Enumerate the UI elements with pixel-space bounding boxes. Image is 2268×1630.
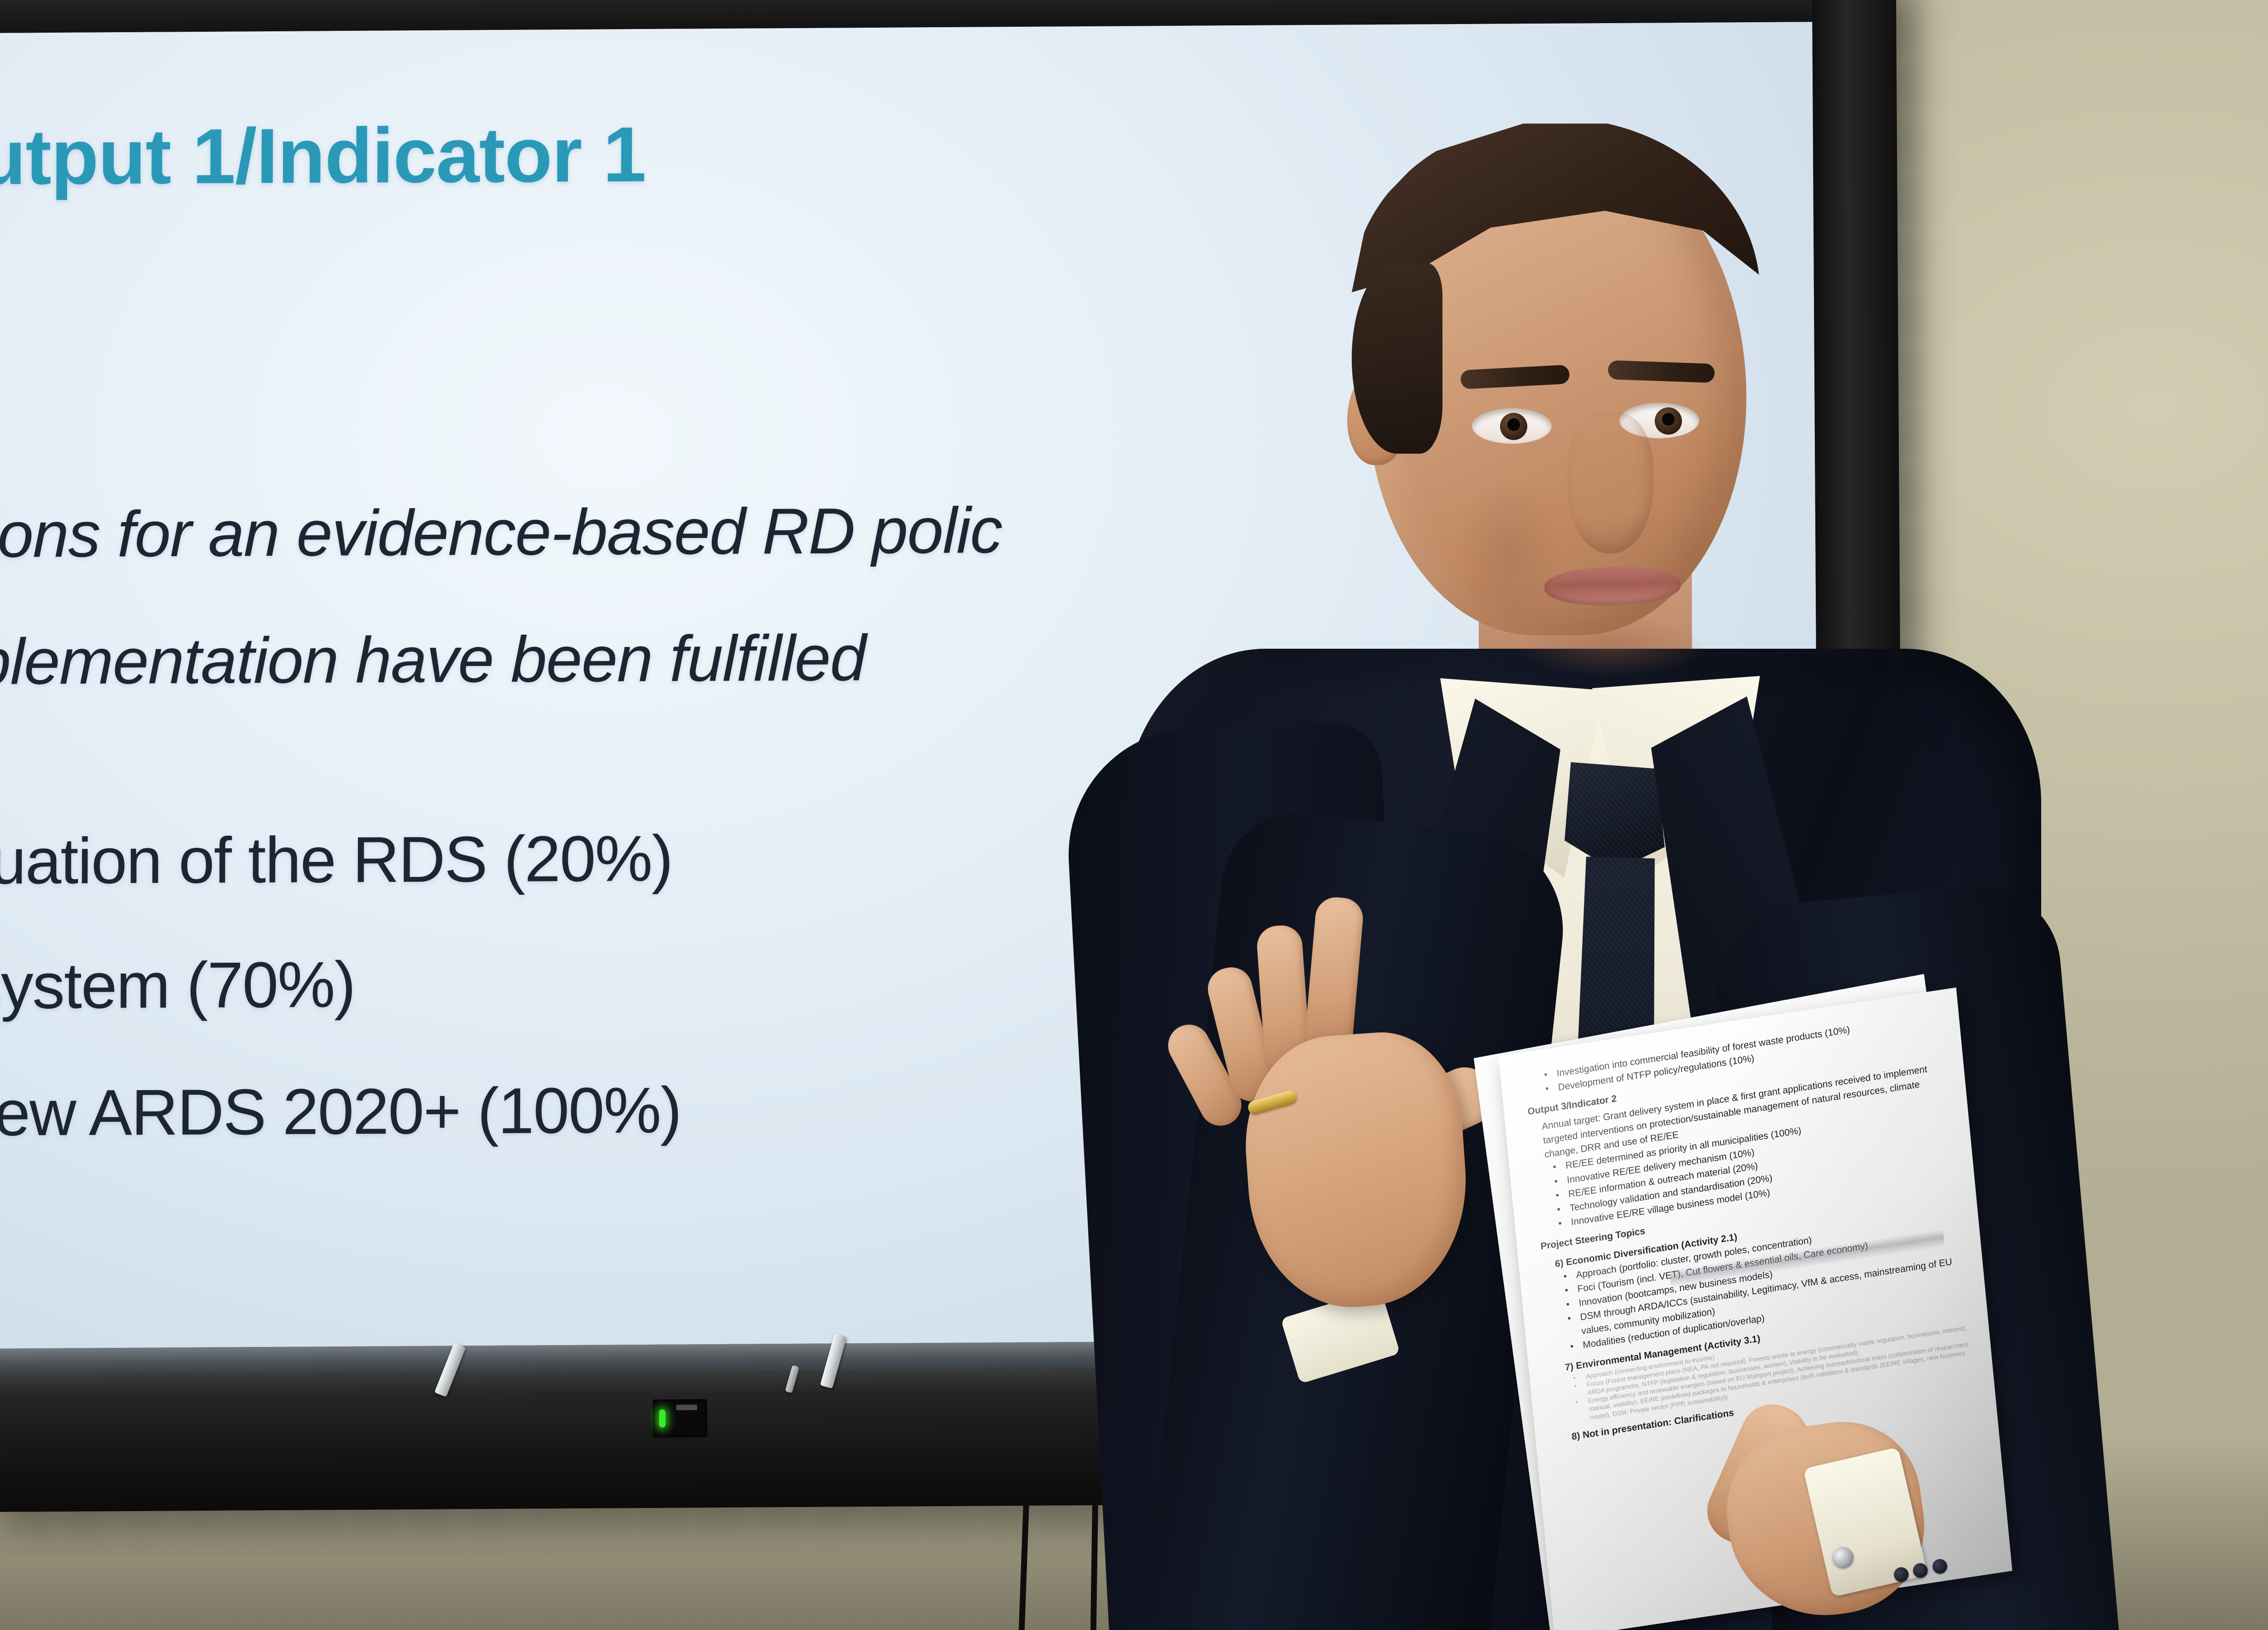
sleeve-button bbox=[1912, 1562, 1929, 1579]
hair-sideburn bbox=[1352, 263, 1442, 454]
slide-title: Output 1/Indicator 1 bbox=[0, 109, 646, 202]
presentation-photo-scene: Output 1/Indicator 1 get onditions for a… bbox=[0, 0, 2268, 1630]
pupil bbox=[1507, 418, 1520, 431]
eyebrow bbox=[1608, 360, 1715, 383]
presenter: Investigation into commercial feasibilit… bbox=[1034, 113, 2168, 1630]
slide-line-ards: he new ARDS 2020+ (100%) bbox=[0, 1073, 681, 1151]
sleeve-button bbox=[1931, 1558, 1949, 1575]
slide-line-conditions: onditions for an evidence-based RD polic bbox=[0, 494, 1002, 573]
slide-line-implementation: d implementation have been fulfilled bbox=[0, 621, 865, 700]
display-brand-mark bbox=[676, 1405, 697, 1410]
chin-shading bbox=[1515, 617, 1706, 676]
slide-line-system: &E system (70%) bbox=[0, 948, 355, 1024]
eye bbox=[1472, 408, 1552, 444]
handout-text-block: Investigation into commercial feasibilit… bbox=[1524, 1009, 1976, 1445]
power-led-indicator bbox=[653, 1399, 708, 1438]
cheek-shading bbox=[1456, 476, 1560, 631]
slide-line-evaluation: evaluation of the RDS (20%) bbox=[0, 822, 673, 900]
pupil bbox=[1662, 413, 1675, 426]
nose bbox=[1567, 413, 1653, 553]
sleeve-button bbox=[1893, 1566, 1910, 1583]
